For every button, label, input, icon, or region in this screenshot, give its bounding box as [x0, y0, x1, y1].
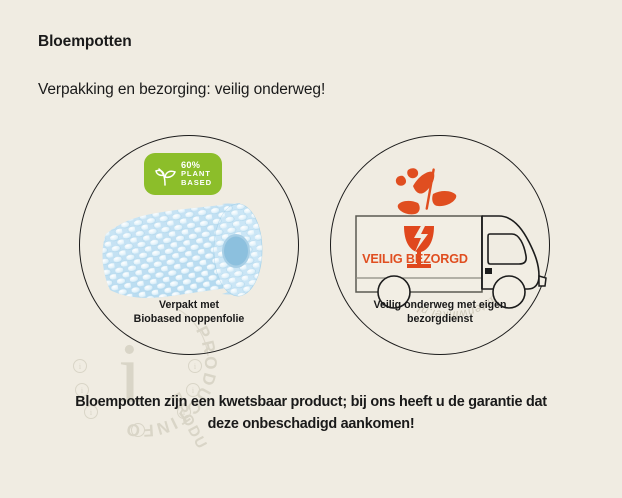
plant-based-line1: PLANT [181, 169, 211, 178]
panel-delivery: VEILIG BEZORGD Veilig onderweg met eigen… [330, 135, 550, 355]
panel-packaging: 60% PLANT BASED [79, 135, 299, 355]
page-title: Bloempotten [38, 33, 132, 51]
bubble-wrap-illustration [90, 194, 290, 314]
plant-based-badge: 60% PLANT BASED [144, 153, 222, 195]
page-subtitle: Verpakking en bezorging: veilig onderweg… [38, 81, 325, 99]
footer-line-1: Bloempotten zijn een kwetsbaar product; … [75, 394, 547, 410]
packaging-caption-line1: Verpakt met [159, 299, 219, 311]
footer-line-2: deze onbeschadigd aankomen! [208, 416, 415, 432]
sprout-icon [154, 161, 178, 187]
packaging-caption-line2: Biobased noppenfolie [134, 313, 245, 325]
packaging-caption: Verpakt met Biobased noppenfolie [80, 298, 298, 327]
product-info-infographic: PRODUCTINFO i i i i i i i [0, 0, 622, 498]
footer-message: Bloempotten zijn een kwetsbaar product; … [30, 392, 592, 435]
delivery-caption-line2: bezorgdienst [407, 313, 473, 325]
plant-based-badge-text: 60% PLANT BASED [181, 160, 212, 189]
delivery-caption-line1: Veilig onderweg met eigen [373, 299, 506, 311]
plant-based-line2: BASED [181, 178, 212, 187]
delivery-caption: Veilig onderweg met eigen bezorgdienst [331, 298, 549, 327]
svg-text:i: i [194, 362, 197, 371]
delivery-truck-illustration [336, 156, 548, 316]
plant-sprig-butterfly-icon [396, 168, 456, 214]
svg-text:i: i [79, 362, 82, 371]
truck-label: VEILIG BEZORGD [354, 252, 476, 266]
